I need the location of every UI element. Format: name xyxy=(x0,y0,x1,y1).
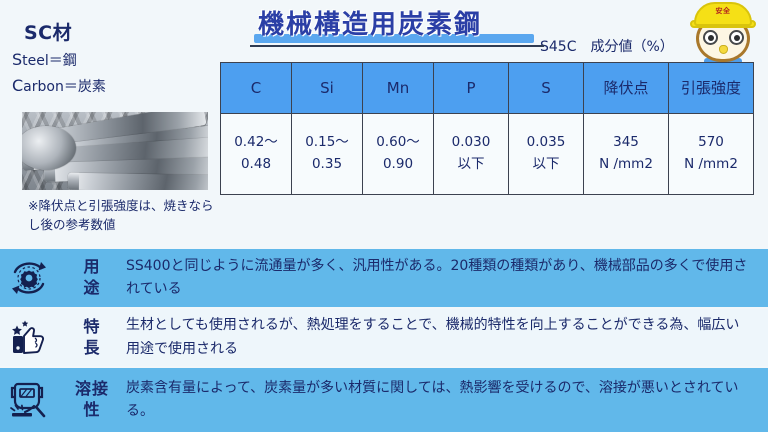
band-text-usage: SS400と同じように流通量が多く、汎用性がある。20種類の種類があり、機械部品… xyxy=(126,255,768,301)
cell-s: 0.035以下 xyxy=(509,114,584,195)
thumbs-up-icon xyxy=(0,317,58,359)
cell-si: 0.15〜0.35 xyxy=(292,114,363,195)
composition-table: C Si Mn P S 降伏点 引張強度 0.42〜0.48 0.15〜0.35… xyxy=(220,62,754,195)
abbreviation-carbon-letter: C xyxy=(12,76,23,95)
band-text-weldability: 炭素含有量によって、炭素量が多い材質に関しては、熱影響を受けるので、溶接が悪いと… xyxy=(126,377,768,423)
info-band-features: 特長 生材としても使用されるが、熱処理をすることで、機械的特性を向上することがで… xyxy=(0,309,768,366)
abbreviation-carbon: Carbon＝炭素 xyxy=(12,76,106,96)
composition-table-head: C Si Mn P S 降伏点 引張強度 xyxy=(221,63,754,114)
mascot-eye-right xyxy=(729,30,744,45)
composition-subcaption: S45C 成分値（%） xyxy=(540,36,674,56)
mascot-beak xyxy=(719,45,728,54)
column-header-p: P xyxy=(434,63,509,114)
column-header-tensile-strength: 引張強度 xyxy=(669,63,754,114)
abbreviation-steel-letter: S xyxy=(12,50,22,69)
page-title: 機械構造用炭素鋼 xyxy=(258,4,482,41)
steel-round-bars-photo xyxy=(22,112,208,190)
band-label-weldability: 溶接性 xyxy=(58,379,126,421)
cell-c: 0.42〜0.48 xyxy=(221,114,292,195)
cell-p: 0.030以下 xyxy=(434,114,509,195)
abbreviation-steel: Steel＝鋼 xyxy=(12,50,77,70)
title-underline-rule xyxy=(250,45,544,47)
rotation-gear-icon xyxy=(0,257,58,299)
column-header-si: Si xyxy=(292,63,363,114)
info-band-usage: 用途 SS400と同じように流通量が多く、汎用性がある。20種類の種類があり、機… xyxy=(0,249,768,307)
column-header-c: C xyxy=(221,63,292,114)
band-label-usage: 用途 xyxy=(58,257,126,299)
left-panel: SC材 Steel＝鋼 Carbon＝炭素 ※降伏点と引張強度は、焼きならし後の… xyxy=(0,0,218,240)
steel-bar xyxy=(68,173,208,190)
page-title-wrap: 機械構造用炭素鋼 xyxy=(258,4,482,41)
abbreviation-carbon-rest: arbon＝炭素 xyxy=(23,79,106,95)
safety-mascot: 安全 xyxy=(690,2,756,64)
cell-yield-point: 345N /mm2 xyxy=(584,114,669,195)
mascot-eye-left xyxy=(703,30,718,45)
slide-root: SC材 Steel＝鋼 Carbon＝炭素 ※降伏点と引張強度は、焼きならし後の… xyxy=(0,0,768,432)
welding-mask-icon xyxy=(0,378,58,422)
abbreviation-steel-rest: teel＝鋼 xyxy=(22,53,77,69)
info-band-weldability: 溶接性 炭素含有量によって、炭素量が多い材質に関しては、熱影響を受けるので、溶接… xyxy=(0,368,768,432)
column-header-s: S xyxy=(509,63,584,114)
mascot-helmet-text: 安全 xyxy=(690,6,756,16)
cell-tensile-strength: 570N /mm2 xyxy=(669,114,754,195)
reference-note: ※降伏点と引張強度は、焼きならし後の参考数値 xyxy=(28,196,218,235)
band-label-features: 特長 xyxy=(58,317,126,359)
column-header-yield-point: 降伏点 xyxy=(584,63,669,114)
table-header-row: C Si Mn P S 降伏点 引張強度 xyxy=(221,63,754,114)
column-header-mn: Mn xyxy=(363,63,434,114)
table-row: 0.42〜0.48 0.15〜0.35 0.60〜0.90 0.030以下 0.… xyxy=(221,114,754,195)
cell-mn: 0.60〜0.90 xyxy=(363,114,434,195)
steel-bars-group xyxy=(22,118,208,190)
band-text-features: 生材としても使用されるが、熱処理をすることで、機械的特性を向上することができる為… xyxy=(126,314,768,360)
composition-table-body: 0.42〜0.48 0.15〜0.35 0.60〜0.90 0.030以下 0.… xyxy=(221,114,754,195)
sc-material-heading: SC材 xyxy=(24,18,72,45)
